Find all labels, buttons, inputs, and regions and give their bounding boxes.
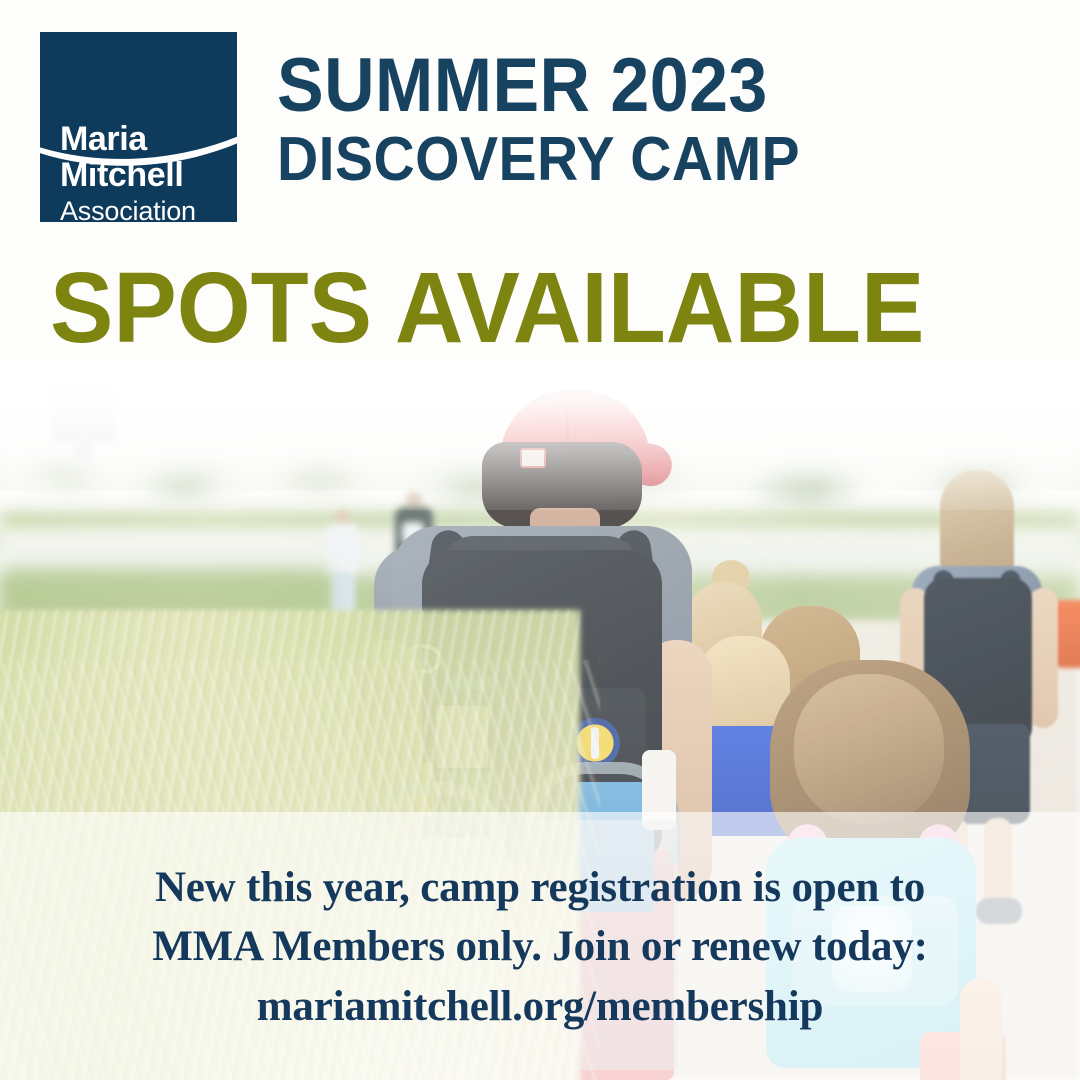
maria-mitchell-association-logo[interactable]: Maria Mitchell Association [40, 32, 237, 222]
title-summer-2023: SUMMER 2023 [277, 50, 976, 123]
poster-canvas: Maria Mitchell Association SUMMER 2023 D… [0, 0, 1080, 1080]
logo-line-maria: Maria [60, 120, 147, 159]
membership-url[interactable]: mariamitchell.org/membership [0, 977, 1080, 1036]
footer-message: New this year, camp registration is open… [0, 858, 1080, 1036]
footer-line-2: MMA Members only. Join or renew today: [0, 917, 1080, 976]
photo-top-white-fade [0, 360, 1080, 510]
logo-line-mitchell: Mitchell [60, 156, 183, 195]
spots-available-headline: SPOTS AVAILABLE [50, 258, 1000, 358]
header-area: Maria Mitchell Association SUMMER 2023 D… [0, 0, 1080, 360]
title-block: SUMMER 2023 DISCOVERY CAMP [277, 50, 1037, 193]
footer-line-1: New this year, camp registration is open… [0, 858, 1080, 917]
title-discovery-camp: DISCOVERY CAMP [277, 127, 976, 193]
logo-line-association: Association [60, 196, 196, 222]
